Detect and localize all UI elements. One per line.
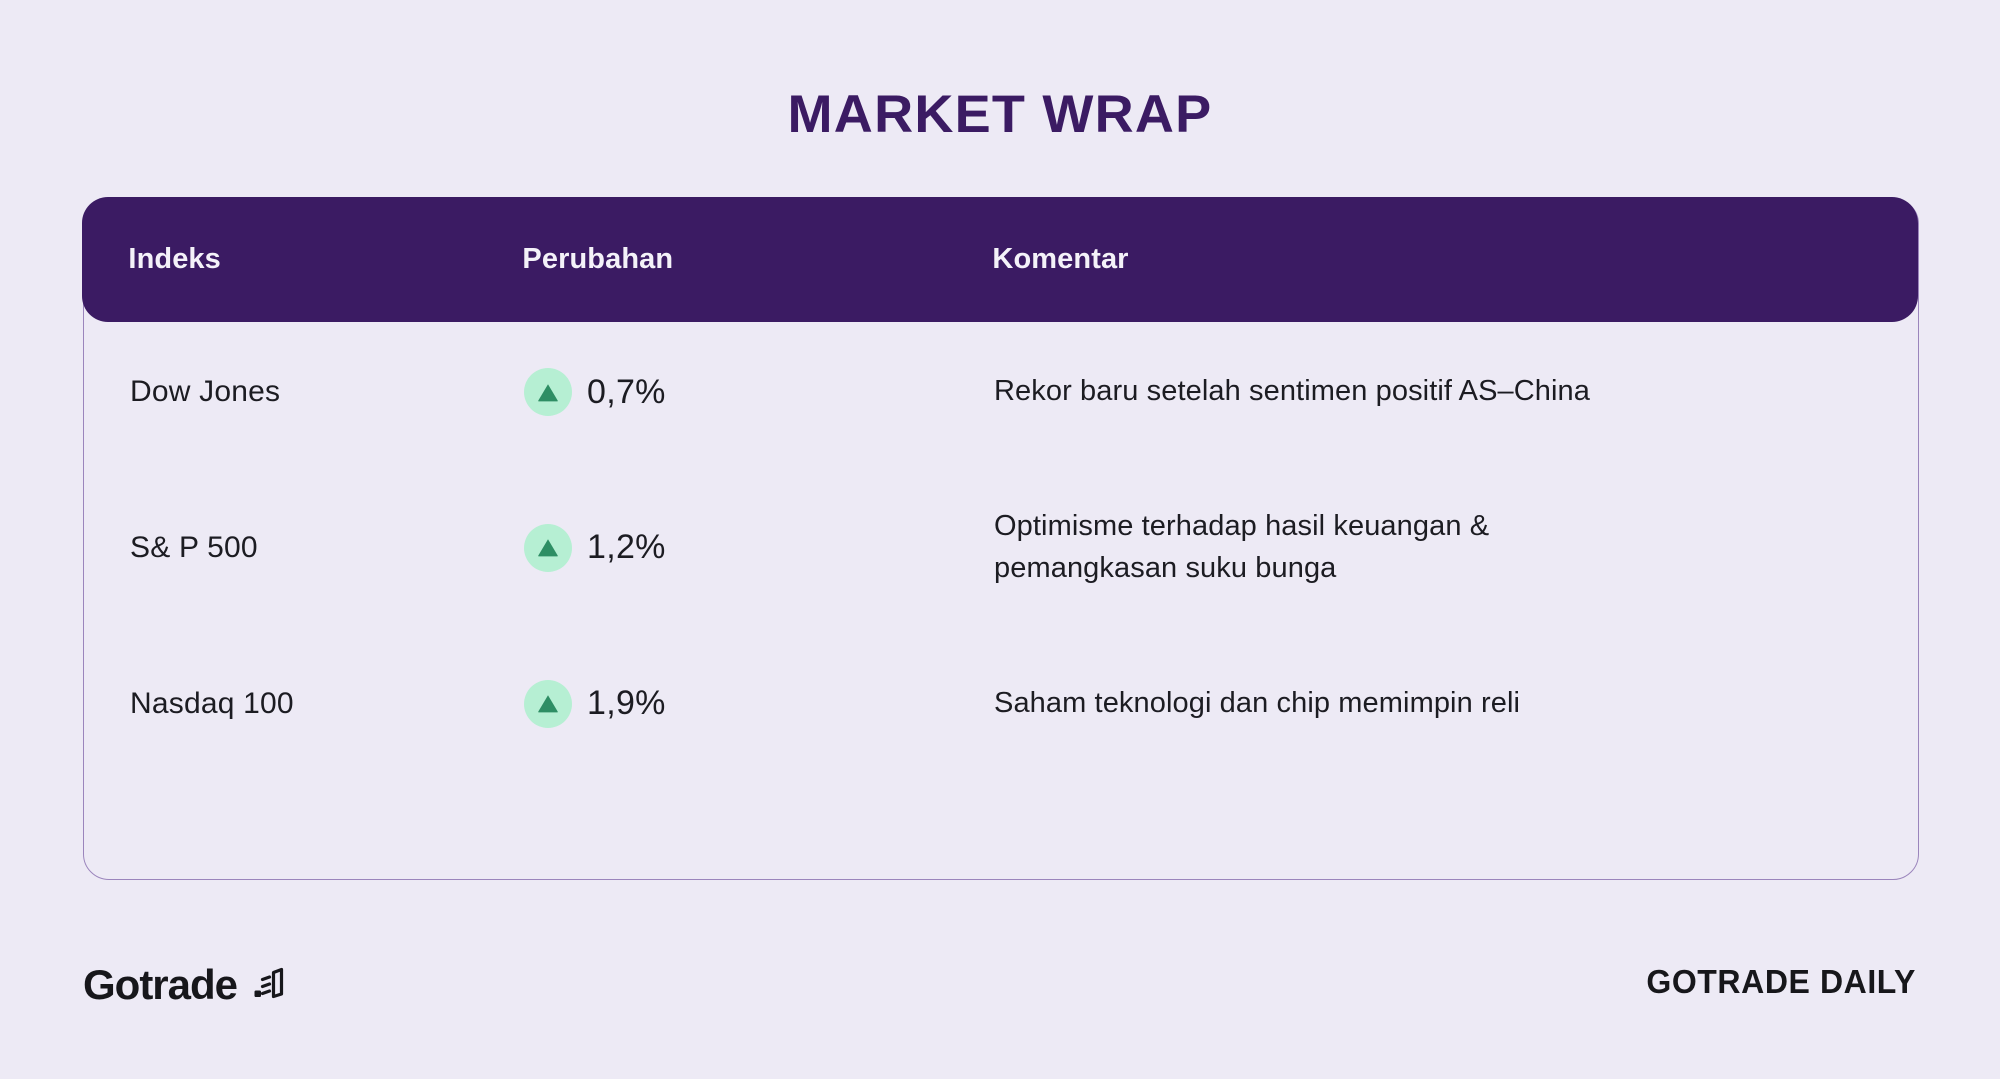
change-value: 1,9% bbox=[587, 684, 666, 723]
market-wrap-infographic: { "title": "MARKET WRAP", "theme": { "ba… bbox=[0, 0, 2000, 1079]
gotrade-bars-icon bbox=[250, 963, 288, 1008]
cell-comment: Saham teknologi dan chip memimpin reli bbox=[994, 683, 1918, 725]
triangle-up-icon bbox=[524, 524, 572, 572]
cell-comment-line: pemangkasan suku bunga bbox=[994, 548, 1858, 590]
table-body: Dow Jones 0,7% Rekor baru setelah sentim… bbox=[84, 324, 1918, 772]
column-header-change: Perubahan bbox=[522, 243, 992, 276]
cell-change: 1,2% bbox=[524, 524, 994, 572]
cell-index: Dow Jones bbox=[84, 375, 524, 409]
cell-index: S& P 500 bbox=[84, 531, 524, 565]
change-value: 0,7% bbox=[587, 373, 666, 412]
triangle-up-icon bbox=[524, 368, 572, 416]
table-row: Dow Jones 0,7% Rekor baru setelah sentim… bbox=[84, 324, 1918, 460]
cell-index: Nasdaq 100 bbox=[84, 687, 524, 721]
table-row: Nasdaq 100 1,9% Saham teknologi dan chip… bbox=[84, 635, 1918, 772]
market-table-card: Indeks Perubahan Komentar Dow Jones 0,7%… bbox=[83, 198, 1919, 880]
column-header-comment: Komentar bbox=[992, 243, 1918, 276]
table-header-row: Indeks Perubahan Komentar bbox=[82, 197, 1918, 322]
triangle-up-icon bbox=[524, 680, 572, 728]
publication-name: GOTRADE DAILY bbox=[1646, 963, 1916, 1001]
page-title: MARKET WRAP bbox=[0, 84, 2000, 145]
cell-change: 0,7% bbox=[524, 368, 994, 416]
cell-comment-line: Optimisme terhadap hasil keuangan & bbox=[994, 506, 1858, 548]
table-row: S& P 500 1,2% Optimisme terhadap hasil k… bbox=[84, 460, 1918, 635]
column-header-index: Indeks bbox=[82, 243, 522, 276]
change-value: 1,2% bbox=[587, 528, 666, 567]
brand-logo: Gotrade bbox=[83, 961, 288, 1009]
cell-comment: Rekor baru setelah sentimen positif AS–C… bbox=[994, 371, 1918, 413]
cell-comment: Optimisme terhadap hasil keuangan & pema… bbox=[994, 506, 1918, 590]
brand-wordmark: Gotrade bbox=[83, 961, 237, 1009]
cell-change: 1,9% bbox=[524, 680, 994, 728]
